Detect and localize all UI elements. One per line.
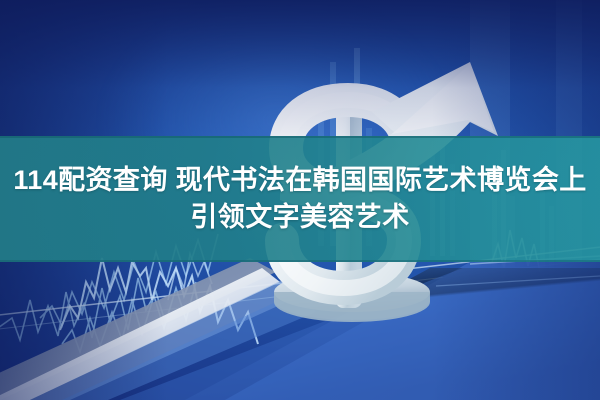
band-bottom-edge: [0, 260, 600, 262]
band-top-edge: [0, 136, 600, 138]
banner-image: 114配资查询 现代书法在韩国国际艺术博览会上 引领文字美容艺术: [0, 0, 600, 400]
headline-band: [0, 136, 600, 262]
